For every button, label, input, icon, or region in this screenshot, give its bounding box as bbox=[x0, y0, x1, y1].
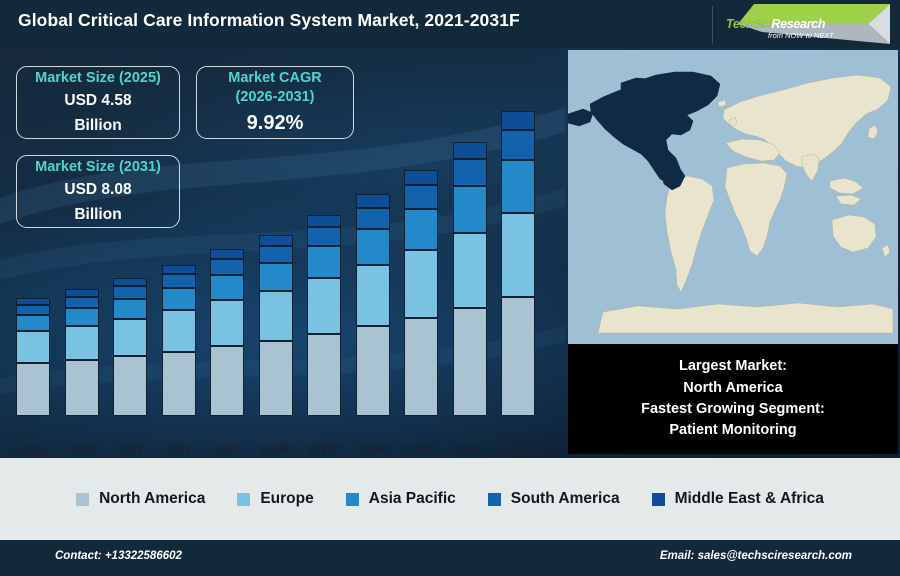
bar-segment bbox=[162, 274, 196, 288]
x-axis-labels: 202120222023202420252026E2027F2028F2029F… bbox=[0, 436, 565, 456]
legend-label: South America bbox=[511, 490, 620, 508]
bar-segment bbox=[453, 159, 487, 185]
x-axis-label: 2023 bbox=[104, 444, 156, 456]
bar-segment bbox=[65, 308, 99, 326]
bar-segment bbox=[210, 249, 244, 259]
info-line-largest-market-label: Largest Market: bbox=[679, 356, 787, 377]
bar-segment bbox=[356, 208, 390, 229]
bar-segment bbox=[65, 360, 99, 416]
bar-segment bbox=[113, 286, 147, 298]
bar-segment bbox=[259, 341, 293, 416]
bar-segment bbox=[16, 331, 50, 364]
bar-column bbox=[210, 249, 244, 416]
footer-contact: Contact: +13322586602 bbox=[55, 550, 182, 562]
bar-segment bbox=[453, 308, 487, 416]
bar-segment bbox=[404, 250, 438, 318]
bar-segment bbox=[65, 326, 99, 361]
world-map bbox=[568, 50, 898, 345]
header-bar: Global Critical Care Information System … bbox=[0, 0, 900, 48]
bar-column bbox=[113, 278, 147, 416]
logo-brand-b: Research bbox=[771, 17, 825, 31]
info-line-fastest-segment-value: Patient Monitoring bbox=[669, 420, 796, 441]
bar-segment bbox=[210, 275, 244, 300]
bar-segment bbox=[501, 130, 535, 160]
bar-segment bbox=[16, 363, 50, 416]
infographic-page: Global Critical Care Information System … bbox=[0, 0, 900, 576]
info-line-largest-market-value: North America bbox=[683, 378, 782, 399]
logo-wordmark: TechSciResearch bbox=[726, 17, 825, 31]
bar-column bbox=[404, 170, 438, 416]
bar-segment bbox=[404, 170, 438, 185]
legend-label: Asia Pacific bbox=[369, 490, 456, 508]
info-box: Largest Market: North America Fastest Gr… bbox=[568, 344, 898, 454]
bar-segment bbox=[307, 227, 341, 246]
logo-brand-a: TechSci bbox=[726, 17, 771, 31]
stacked-bar-chart: 202120222023202420252026E2027F2028F2029F… bbox=[0, 48, 565, 458]
bar-segment bbox=[162, 310, 196, 352]
legend-item[interactable]: North America bbox=[76, 490, 205, 508]
legend-item[interactable]: Asia Pacific bbox=[346, 490, 456, 508]
x-axis-label: 2028F bbox=[347, 444, 399, 456]
legend-swatch bbox=[237, 493, 250, 506]
x-axis-label: 2024 bbox=[153, 444, 205, 456]
bar-segment bbox=[307, 334, 341, 416]
bar-segment bbox=[259, 235, 293, 246]
legend-swatch bbox=[76, 493, 89, 506]
x-axis-label: 2027F bbox=[298, 444, 350, 456]
bar-segment bbox=[210, 300, 244, 346]
x-axis-label: 2021 bbox=[7, 444, 59, 456]
footer-bar: Contact: +13322586602 Email: sales@techs… bbox=[0, 540, 900, 576]
bar-segment bbox=[307, 246, 341, 278]
x-axis-label: 2029F bbox=[395, 444, 447, 456]
bar-segment bbox=[307, 215, 341, 227]
bar-column bbox=[259, 235, 293, 416]
bar-segment bbox=[16, 315, 50, 331]
x-axis-label: 2030F bbox=[444, 444, 496, 456]
bar-segment bbox=[404, 209, 438, 250]
bar-segment bbox=[404, 185, 438, 209]
world-map-svg bbox=[568, 50, 898, 345]
x-axis-label: 2026E bbox=[250, 444, 302, 456]
bar-segment bbox=[501, 111, 535, 131]
bar-segment bbox=[356, 265, 390, 326]
bar-segment bbox=[307, 278, 341, 333]
bar-segment bbox=[356, 326, 390, 416]
bar-column bbox=[65, 289, 99, 416]
logo-tagline: from NOW to NEXT bbox=[768, 31, 834, 40]
bar-segment bbox=[162, 352, 196, 416]
chart-legend: North AmericaEuropeAsia PacificSouth Ame… bbox=[0, 458, 900, 540]
bar-segment bbox=[501, 213, 535, 297]
legend-swatch bbox=[346, 493, 359, 506]
bar-segment bbox=[162, 288, 196, 310]
legend-swatch bbox=[488, 493, 501, 506]
bar-segment bbox=[210, 346, 244, 416]
bar-segment bbox=[162, 265, 196, 274]
legend-item[interactable]: Middle East & Africa bbox=[652, 490, 824, 508]
bar-column bbox=[453, 142, 487, 416]
bar-segment bbox=[501, 160, 535, 213]
bar-segment bbox=[501, 297, 535, 416]
bar-segment bbox=[113, 299, 147, 319]
bar-segment bbox=[113, 356, 147, 416]
bar-segment bbox=[356, 194, 390, 208]
bar-segment bbox=[404, 318, 438, 416]
bar-column bbox=[356, 194, 390, 416]
legend-item[interactable]: Europe bbox=[237, 490, 313, 508]
bar-segment bbox=[16, 298, 50, 305]
legend-label: Europe bbox=[260, 490, 313, 508]
bar-segment bbox=[259, 263, 293, 291]
logo-divider bbox=[712, 6, 713, 44]
bar-segment bbox=[259, 246, 293, 263]
techsci-logo: TechSciResearch from NOW to NEXT bbox=[718, 2, 894, 46]
bar-column bbox=[16, 298, 50, 416]
legend-swatch bbox=[652, 493, 665, 506]
x-axis-label: 2031F bbox=[492, 444, 544, 456]
x-axis-label: 2022 bbox=[56, 444, 108, 456]
footer-email: Email: sales@techsciresearch.com bbox=[660, 550, 852, 562]
bar-column bbox=[501, 111, 535, 416]
bar-segment bbox=[65, 289, 99, 297]
bar-column bbox=[307, 215, 341, 416]
bar-segment bbox=[210, 259, 244, 274]
bar-segment bbox=[356, 229, 390, 265]
bar-segment bbox=[113, 319, 147, 357]
bar-segment bbox=[65, 297, 99, 308]
bar-segment bbox=[453, 233, 487, 308]
bar-segment bbox=[453, 142, 487, 159]
bar-column bbox=[162, 265, 196, 416]
legend-label: Middle East & Africa bbox=[675, 490, 824, 508]
bar-segment bbox=[259, 291, 293, 341]
bar-segment bbox=[113, 278, 147, 286]
legend-item[interactable]: South America bbox=[488, 490, 620, 508]
page-title: Global Critical Care Information System … bbox=[18, 10, 520, 31]
x-axis-label: 2025 bbox=[201, 444, 253, 456]
info-line-fastest-segment-label: Fastest Growing Segment: bbox=[641, 399, 825, 420]
bar-segment bbox=[453, 186, 487, 233]
legend-label: North America bbox=[99, 490, 205, 508]
bar-segment bbox=[16, 305, 50, 316]
